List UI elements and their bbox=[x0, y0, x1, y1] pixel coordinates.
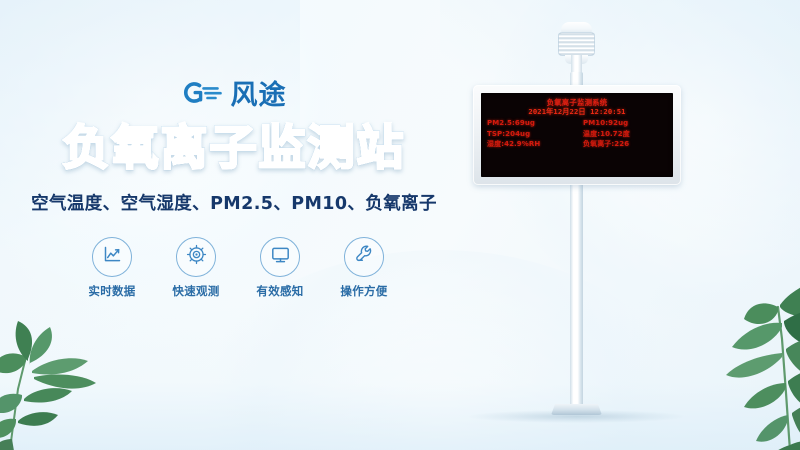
led-screen: 负氧离子监测系统 2021年12月22日 12:20:51 PM2.5:69ug… bbox=[481, 93, 673, 177]
led-datetime: 2021年12月22日 12:20:51 bbox=[487, 107, 667, 117]
led-title: 负氧离子监测系统 bbox=[487, 98, 667, 107]
led-reading-pm25: PM2.5:69ug bbox=[487, 119, 577, 129]
brand-logo: 风途 bbox=[0, 78, 468, 112]
feature-item-fast-observation: 快速观测 bbox=[165, 237, 227, 299]
led-reading-temperature: 温度:10.72度 bbox=[577, 130, 667, 140]
headline-wrapper: 负氧离子监测站 bbox=[0, 123, 468, 175]
feature-icon-circle bbox=[92, 237, 132, 277]
monitor-screen-icon bbox=[270, 244, 291, 270]
wrench-icon bbox=[354, 244, 375, 270]
radar-scan-icon bbox=[186, 244, 207, 270]
led-readings-grid: PM2.5:69ug PM10:92ug TSP:204ug 温度:10.72度… bbox=[487, 119, 667, 150]
feature-label: 操作方便 bbox=[333, 283, 395, 299]
green-leaves-icon bbox=[0, 311, 142, 450]
feature-label: 有效感知 bbox=[249, 283, 311, 299]
led-reading-tsp: TSP:204ug bbox=[487, 130, 577, 140]
promo-banner: 风途 负氧离子监测站 空气温度、空气湿度、PM2.5、PM10、负氧离子 实时数 bbox=[0, 0, 800, 450]
feature-list: 实时数据 快速观测 bbox=[0, 237, 468, 299]
feature-icon-circle bbox=[260, 237, 300, 277]
fengtu-wind-logo-icon bbox=[182, 79, 224, 112]
led-reading-pm10: PM10:92ug bbox=[577, 119, 667, 129]
ground-shadow bbox=[469, 410, 685, 423]
sensor-louvers bbox=[558, 32, 595, 56]
led-reading-humidity: 湿度:42.9%RH bbox=[487, 140, 577, 150]
monitoring-station: 负氧离子监测系统 2021年12月22日 12:20:51 PM2.5:69ug… bbox=[455, 0, 715, 450]
hero-copy-block: 风途 负氧离子监测站 空气温度、空气湿度、PM2.5、PM10、负氧离子 实时数 bbox=[0, 78, 468, 299]
led-display-panel: 负氧离子监测系统 2021年12月22日 12:20:51 PM2.5:69ug… bbox=[473, 85, 681, 185]
feature-label: 实时数据 bbox=[81, 283, 143, 299]
feature-icon-circle bbox=[176, 237, 216, 277]
hero-subtitle: 空气温度、空气湿度、PM2.5、PM10、负氧离子 bbox=[0, 190, 468, 215]
feature-item-realtime-data: 实时数据 bbox=[81, 237, 143, 299]
feature-icon-circle bbox=[344, 237, 384, 277]
led-reading-negative-ions: 负氧离子:226 bbox=[577, 140, 667, 150]
feature-item-effective-sensing: 有效感知 bbox=[249, 237, 311, 299]
line-chart-icon bbox=[102, 244, 123, 270]
page-title: 负氧离子监测站 bbox=[0, 123, 468, 175]
feature-item-easy-operation: 操作方便 bbox=[333, 237, 395, 299]
feature-label: 快速观测 bbox=[165, 283, 227, 299]
brand-name: 风途 bbox=[231, 82, 287, 109]
